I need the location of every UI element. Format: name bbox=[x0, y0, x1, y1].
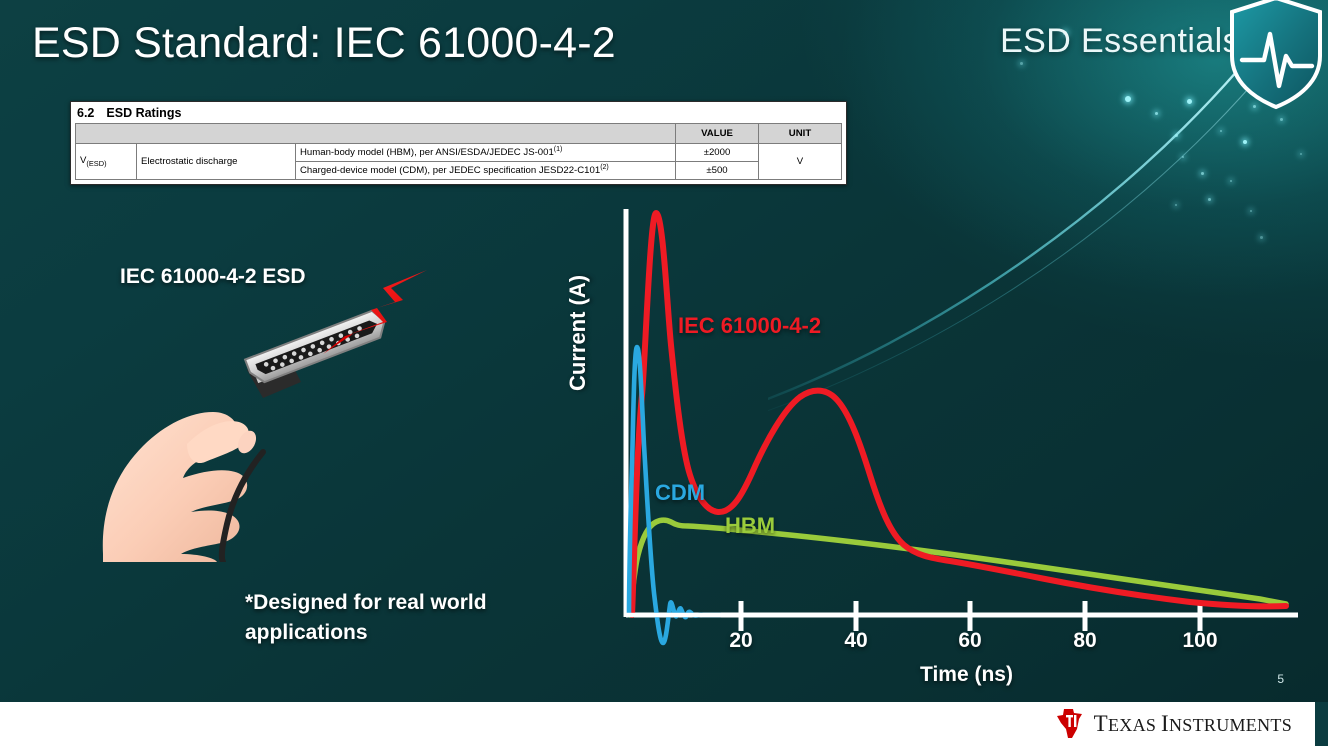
lightning-bolt-icon bbox=[323, 270, 427, 354]
cdm-footnote: (2) bbox=[600, 164, 609, 171]
table-row: V(ESD) Electrostatic discharge Human-bod… bbox=[76, 144, 842, 162]
table-header-unit: UNIT bbox=[759, 124, 842, 144]
series-label-cdm: CDM bbox=[655, 480, 705, 506]
slide-canvas: ESD Standard: IEC 61000-4-2 ESD Essentia… bbox=[0, 0, 1328, 746]
x-tick-label-40: 40 bbox=[844, 629, 867, 653]
symbol-subscript: (ESD) bbox=[86, 159, 106, 168]
slide-footer: TEXAS INSTRUMENTS bbox=[0, 702, 1328, 746]
table-header-blank bbox=[76, 124, 676, 144]
y-axis-label: Current (A) bbox=[565, 275, 591, 391]
series-label-hbm: HBM bbox=[725, 513, 775, 539]
company-nstruments: NSTRUMENTS bbox=[1169, 715, 1292, 735]
x-tick-label-20: 20 bbox=[729, 629, 752, 653]
cell-description-cdm: Charged-device model (CDM), per JEDEC sp… bbox=[296, 162, 676, 180]
x-axis-label: Time (ns) bbox=[920, 663, 1013, 687]
cdm-description: Charged-device model (CDM), per JEDEC sp… bbox=[300, 165, 600, 176]
hbm-footnote: (1) bbox=[554, 146, 563, 153]
esd-ratings-table: 6.2ESD Ratings VALUE UNIT V(ESD) Electro… bbox=[70, 101, 847, 185]
company-i: I bbox=[1161, 711, 1169, 736]
table-header-value: VALUE bbox=[676, 124, 759, 144]
series-label-iec: IEC 61000-4-2 bbox=[678, 313, 821, 339]
table-section-heading: 6.2ESD Ratings bbox=[71, 102, 846, 123]
section-number: 6.2 bbox=[77, 106, 94, 120]
section-title: ESD Ratings bbox=[106, 106, 181, 120]
page-title: ESD Standard: IEC 61000-4-2 bbox=[32, 19, 616, 68]
cell-description-hbm: Human-body model (HBM), per ANSI/ESDA/JE… bbox=[296, 144, 676, 162]
company-name: TEXAS INSTRUMENTS bbox=[1094, 711, 1292, 737]
ti-mark-icon bbox=[1055, 707, 1085, 740]
shield-pulse-icon bbox=[1224, 0, 1328, 112]
page-number: 5 bbox=[1277, 672, 1284, 686]
cell-symbol: V(ESD) bbox=[76, 144, 137, 180]
x-tick-label-80: 80 bbox=[1073, 629, 1096, 653]
company-exas: EXAS bbox=[1108, 715, 1161, 735]
cell-value-cdm: ±500 bbox=[676, 162, 759, 180]
esd-waveform-chart: Current (A) Time (ns) IEC 61000-4-2 CDM … bbox=[570, 195, 1310, 695]
footer-accent-bar bbox=[1315, 702, 1328, 746]
x-tick-label-100: 100 bbox=[1182, 629, 1217, 653]
hand-holding-connector-icon bbox=[95, 262, 435, 562]
note-line-1: *Designed for real world bbox=[245, 591, 487, 614]
table-header-row: VALUE UNIT bbox=[76, 124, 842, 144]
hbm-description: Human-body model (HBM), per ANSI/ESDA/JE… bbox=[300, 147, 554, 158]
cell-parameter: Electrostatic discharge bbox=[137, 144, 296, 180]
cell-value-hbm: ±2000 bbox=[676, 144, 759, 162]
note-line-2: applications bbox=[245, 621, 368, 644]
designed-note: *Designed for real world applications bbox=[245, 588, 555, 649]
cell-unit: V bbox=[759, 144, 842, 180]
brand-label: ESD Essentials bbox=[1000, 22, 1240, 61]
x-tick-label-60: 60 bbox=[958, 629, 981, 653]
texas-instruments-logo-icon: TEXAS INSTRUMENTS bbox=[1055, 707, 1292, 740]
chart-plot bbox=[570, 195, 1310, 665]
company-t: T bbox=[1094, 711, 1108, 736]
